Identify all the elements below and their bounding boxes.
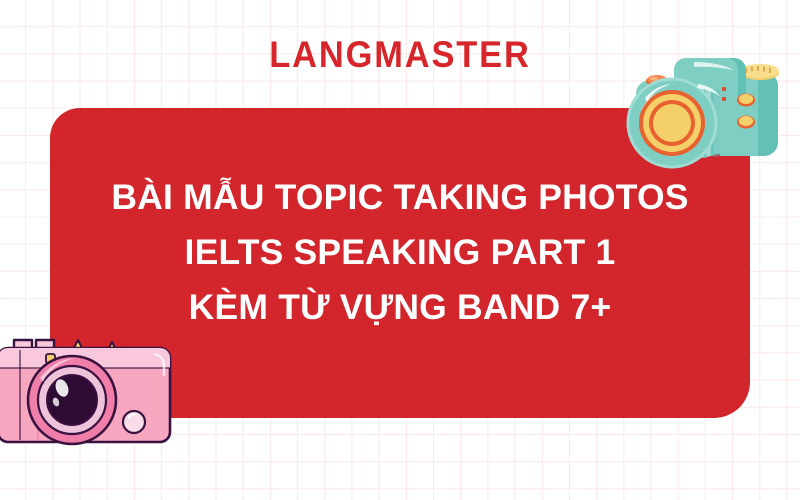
poster-canvas: LANGMASTER BÀI MẪU TOPIC TAKING PHOTOS I… [0,0,800,500]
title-line-3: KÈM TỪ VỰNG BAND 7+ [50,280,750,335]
compact-camera-icon [0,330,174,462]
page-title: BÀI MẪU TOPIC TAKING PHOTOS IELTS SPEAKI… [50,170,750,335]
dslr-camera-icon [624,24,800,176]
title-line-2: IELTS SPEAKING PART 1 [50,225,750,280]
title-line-1: BÀI MẪU TOPIC TAKING PHOTOS [50,170,750,225]
